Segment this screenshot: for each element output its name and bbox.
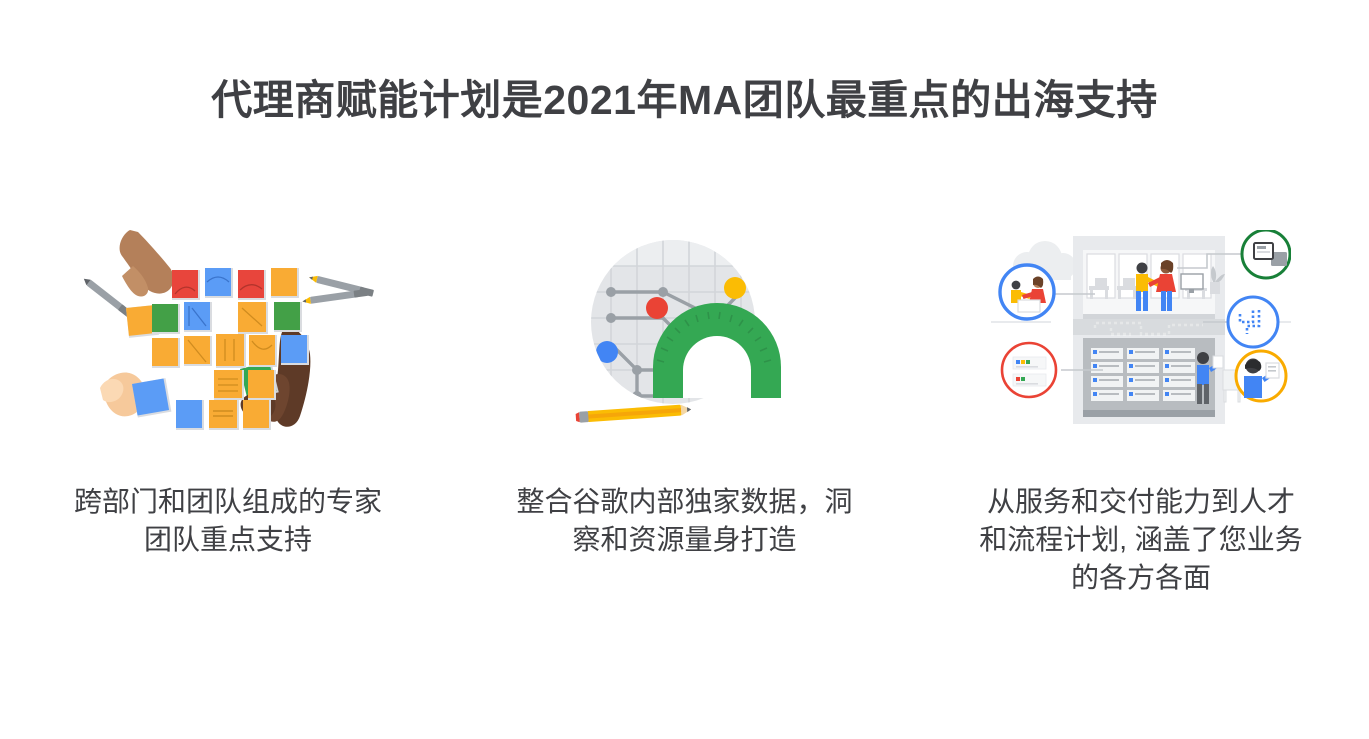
sticky-notes-brainstorm-illustration [78,230,378,445]
sticky-note [152,304,180,334]
chart-node-yellow [724,277,746,299]
sticky-note [209,400,239,430]
sticky-note [132,378,171,417]
sticky-note [216,334,246,368]
sticky-note [172,270,200,300]
sticky-note [281,335,309,365]
column-caption: 跨部门和团队组成的专家团队重点支持 [63,483,393,559]
column-caption: 整合谷歌内部独家数据，洞察和资源量身打造 [512,483,857,559]
data-chart-protractor-illustration [535,230,835,445]
chart-node-red [646,297,668,319]
sticky-note [152,338,180,368]
column-2: 整合谷歌内部独家数据，洞察和资源量身打造 [457,230,913,559]
sticky-note [238,270,266,300]
badge-flow-blue [1228,297,1278,347]
slide-root: 代理商赋能计划是2021年MA团队最重点的出海支持 [0,0,1369,739]
page-title: 代理商赋能计划是2021年MA团队最重点的出海支持 [0,70,1369,130]
sticky-note [214,370,244,400]
sticky-note [176,400,204,430]
sticky-note [249,335,277,367]
badge-reports-red [1002,343,1056,397]
sticky-note [184,336,212,366]
sticky-note [248,370,276,400]
sticky-note [271,268,299,298]
sticky-note [205,268,233,298]
pencil-icon [575,404,691,423]
office-workflow-illustration [991,230,1291,445]
column-1: 跨部门和团队组成的专家团队重点支持 [0,230,456,559]
sticky-note [184,302,212,332]
sticky-note [274,302,302,332]
chart-node-blue [596,341,618,363]
pencil-icon [302,289,368,305]
column-caption: 从服务和交付能力到人才和流程计划, 涵盖了您业务的各方各面 [976,483,1306,597]
badge-screens-green [1242,230,1290,278]
badge-talent-yellow [1236,351,1286,401]
badge-collaboration-blue [1000,265,1054,319]
column-3: 从服务和交付能力到人才和流程计划, 涵盖了您业务的各方各面 [913,230,1369,597]
sticky-note [238,302,268,334]
sticky-note [243,400,271,430]
columns-container: 跨部门和团队组成的专家团队重点支持 [0,230,1369,597]
